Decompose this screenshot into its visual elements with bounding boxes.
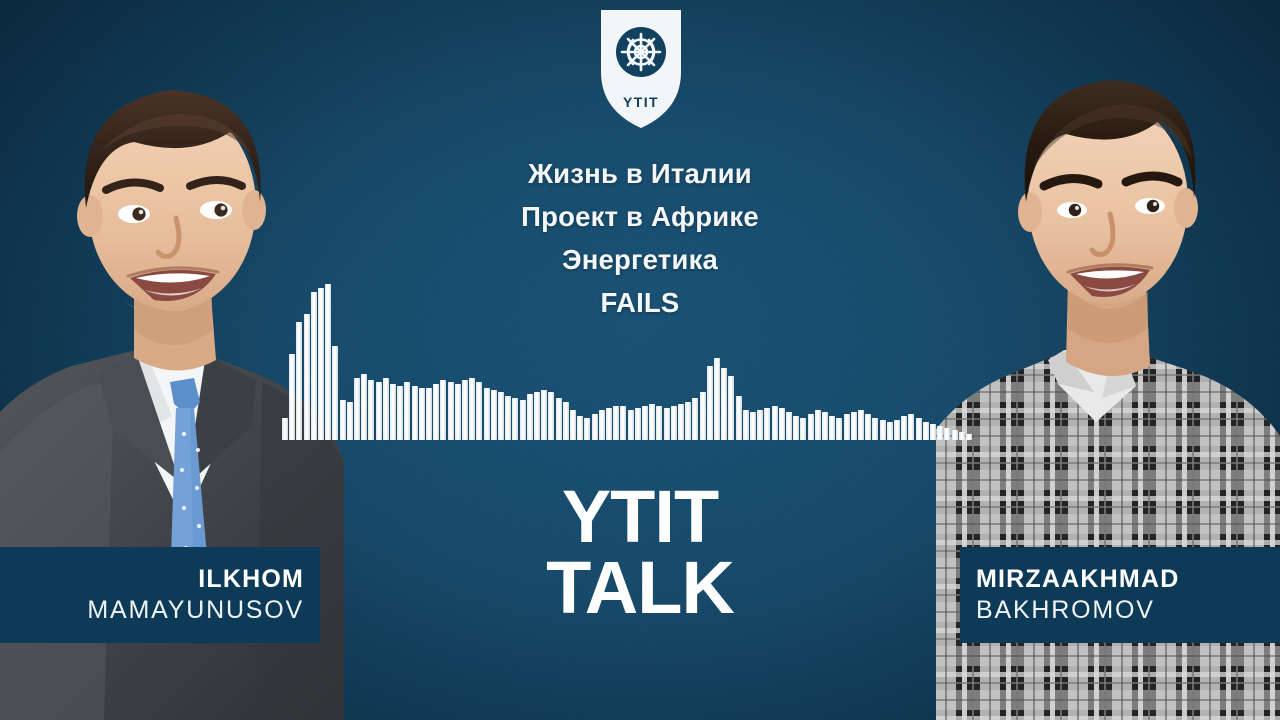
waveform-bar (944, 428, 950, 440)
waveform-bar (664, 408, 670, 440)
waveform-bar (347, 402, 353, 440)
waveform-bar (908, 414, 914, 440)
waveform-bar (844, 414, 850, 440)
waveform-bar (786, 412, 792, 440)
waveform-bar (304, 314, 310, 440)
waveform-bar (397, 386, 403, 440)
waveform-bar (836, 418, 842, 440)
waveform-bar (700, 392, 706, 440)
waveform-bar (412, 386, 418, 440)
waveform-bar (577, 416, 583, 440)
waveform-bar (822, 412, 828, 440)
waveform-bar (966, 434, 972, 440)
waveform-bar (354, 378, 360, 440)
waveform-bar (851, 412, 857, 440)
waveform-bar (649, 404, 655, 440)
waveform-bar (498, 392, 504, 440)
waveform-bar (678, 404, 684, 440)
topic-line-3: Энергетика (340, 238, 940, 281)
waveform-bar (556, 398, 562, 440)
waveform-bar (548, 392, 554, 440)
name-plate-left: ILKHOM MAMAYUNUSOV (0, 547, 320, 643)
waveform-bar (318, 288, 324, 440)
waveform-bar (642, 406, 648, 440)
waveform-bar (491, 390, 497, 440)
waveform-bar (815, 410, 821, 440)
waveform-bar (800, 418, 806, 440)
waveform-bar (952, 430, 958, 440)
waveform-bar (937, 426, 943, 440)
waveform-bar (635, 408, 641, 440)
waveform-bar (887, 422, 893, 440)
waveform-bar (757, 410, 763, 440)
waveform-bar (584, 418, 590, 440)
guest-last-name-right: BAKHROMOV (976, 594, 1155, 626)
logo-wordmark: YTIT (623, 94, 659, 110)
waveform-bar (455, 384, 461, 440)
waveform-bar (289, 354, 295, 440)
waveform-bar (448, 382, 454, 440)
waveform-bar (728, 376, 734, 440)
globe-grid-icon (616, 27, 666, 77)
waveform-bar (340, 400, 346, 440)
waveform-bar (880, 420, 886, 440)
waveform-bar (916, 418, 922, 440)
waveform-bar (592, 414, 598, 440)
waveform-bar (462, 380, 468, 440)
waveform-bar (628, 410, 634, 440)
waveform-bar (469, 378, 475, 440)
waveform-bar (383, 378, 389, 440)
audio-waveform (282, 282, 972, 440)
waveform-bar (599, 410, 605, 440)
waveform-bar (714, 358, 720, 440)
topic-line-2: Проект в Африке (340, 195, 940, 238)
waveform-bar (570, 410, 576, 440)
waveform-bar (282, 418, 288, 440)
waveform-bar (440, 380, 446, 440)
waveform-bar (750, 412, 756, 440)
waveform-bar (520, 400, 526, 440)
waveform-bar (613, 406, 619, 440)
waveform-bar (390, 384, 396, 440)
show-title-line-1: YTIT (340, 482, 940, 552)
waveform-bar (959, 432, 965, 440)
waveform-bar (368, 380, 374, 440)
waveform-bar (563, 402, 569, 440)
ytit-shield-logo: YTIT (597, 8, 685, 130)
waveform-bar (930, 424, 936, 440)
waveform-bar (534, 392, 540, 440)
guest-first-name-right: MIRZAAKHMAD (976, 564, 1179, 594)
waveform-bar (620, 406, 626, 440)
waveform-bar (692, 398, 698, 440)
waveform-bar (419, 388, 425, 440)
waveform-bar (793, 416, 799, 440)
waveform-bar (505, 396, 511, 440)
waveform-bar (764, 408, 770, 440)
waveform-bar (865, 414, 871, 440)
show-title-line-2: TALK (340, 552, 940, 624)
waveform-bar (512, 398, 518, 440)
waveform-bar (707, 366, 713, 440)
waveform-bar (433, 384, 439, 440)
waveform-bar (476, 382, 482, 440)
waveform-bar (541, 390, 547, 440)
waveform-bar (894, 420, 900, 440)
waveform-bar (721, 368, 727, 440)
waveform-bar (606, 408, 612, 440)
waveform-bar (808, 414, 814, 440)
waveform-bar (376, 382, 382, 440)
waveform-bar (484, 388, 490, 440)
waveform-bar (325, 284, 331, 440)
waveform-bar (404, 382, 410, 440)
waveform-bar (685, 402, 691, 440)
waveform-bar (901, 416, 907, 440)
waveform-bar (779, 408, 785, 440)
waveform-bar (736, 396, 742, 440)
waveform-bar (743, 410, 749, 440)
topic-line-1: Жизнь в Италии (340, 152, 940, 195)
waveform-bar (923, 422, 929, 440)
waveform-bar (527, 394, 533, 440)
guest-first-name-left: ILKHOM (198, 564, 304, 594)
waveform-bar (671, 406, 677, 440)
show-title: YTIT TALK (340, 482, 940, 624)
waveform-bar (296, 322, 302, 440)
waveform-bar (361, 374, 367, 440)
waveform-bar (311, 292, 317, 440)
waveform-bar (426, 388, 432, 440)
waveform-bar (829, 416, 835, 440)
waveform-bar (858, 410, 864, 440)
thumbnail-canvas: YTIT Жизнь в Италии Проект в Африке Энер… (0, 0, 1280, 720)
waveform-bar (656, 406, 662, 440)
waveform-bar (872, 418, 878, 440)
waveform-bar (332, 346, 338, 440)
waveform-bar (772, 406, 778, 440)
guest-last-name-left: MAMAYUNUSOV (87, 594, 304, 626)
name-plate-right: MIRZAAKHMAD BAKHROMOV (960, 547, 1280, 643)
